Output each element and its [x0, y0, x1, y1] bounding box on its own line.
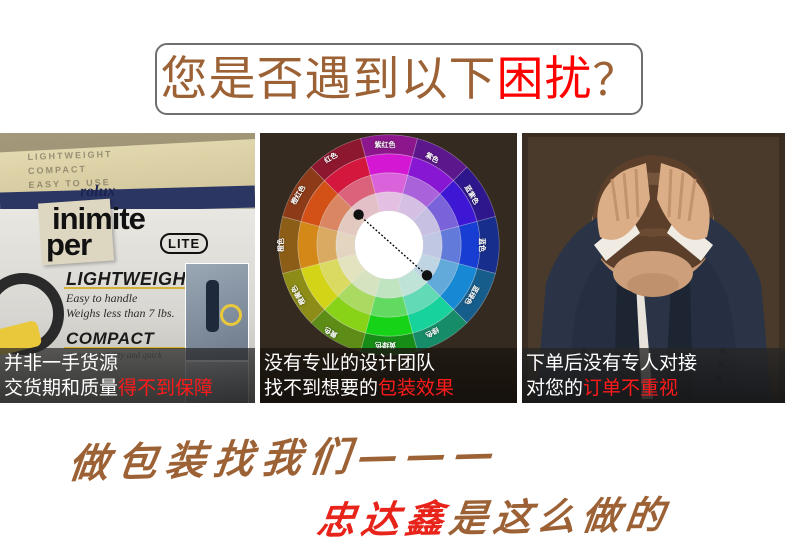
box-lite-badge: LITE	[160, 233, 208, 254]
panel-service[interactable]: 下单后没有专人对接 对您的订单不重视	[522, 133, 785, 403]
wheel-label-9: 橙色	[276, 238, 286, 252]
header-text-before: 您是否遇到以下	[161, 52, 497, 107]
footer-brand-name: 忠达鑫	[314, 496, 452, 543]
color-wheel-svg	[275, 133, 503, 359]
box-photo-inset-1	[185, 263, 249, 361]
caption-line-2-red: 订单不重视	[583, 377, 678, 399]
footer-slogan-tail: 是这么做的	[447, 492, 673, 541]
header-question-mark: ？	[593, 55, 638, 106]
header-text-highlight: 困扰	[497, 52, 593, 107]
box-feature-1-sub: Easy to handleWeighs less than 7 lbs.	[66, 291, 175, 321]
caption-line-2-plain: 交货期和质量	[4, 377, 118, 399]
page-title: 您是否遇到以下困扰？	[161, 56, 638, 103]
caption-line-2-plain: 对您的	[526, 377, 583, 399]
caption-line-2-red: 得不到保障	[118, 377, 213, 399]
box-feature-1-title: LIGHTWEIGHT	[66, 269, 197, 290]
wheel-label-3: 蓝色	[477, 238, 487, 252]
footer-slogan-line-1: 做包装找我们———	[66, 420, 506, 489]
caption-line-2: 对您的订单不重视	[526, 376, 785, 401]
panel-sourcing[interactable]: LIGHTWEIGHT COMPACT EASY TO USE rolux in…	[0, 133, 255, 403]
caption-line-1: 并非一手货源	[4, 351, 255, 376]
caption-service: 下单后没有专人对接 对您的订单不重视	[522, 348, 785, 403]
panel-design[interactable]: 紫红色紫色蓝紫色蓝色蓝绿色绿色黄绿色黄色橙黄色橙色橙红色红色 没有专业的设计团队…	[260, 133, 517, 403]
panel-row: LIGHTWEIGHT COMPACT EASY TO USE rolux in…	[0, 133, 790, 403]
box-feature-2-title: COMPACT	[66, 329, 154, 349]
color-wheel-graphic	[275, 133, 503, 359]
box-product-title-2: per	[46, 227, 91, 263]
wheel-label-0: 紫红色	[375, 140, 396, 150]
poster-root: 您是否遇到以下困扰？ LIGHTWEIGHT COMPACT EASY TO U…	[0, 0, 790, 559]
caption-line-1: 没有专业的设计团队	[264, 351, 517, 376]
caption-line-1: 下单后没有专人对接	[526, 351, 785, 376]
header-banner: 您是否遇到以下困扰？	[155, 43, 643, 115]
caption-line-2-plain: 找不到想要的	[264, 377, 378, 399]
caption-line-2: 交货期和质量得不到保障	[4, 376, 255, 401]
caption-line-2: 找不到想要的包装效果	[264, 376, 517, 401]
caption-design: 没有专业的设计团队 找不到想要的包装效果	[260, 348, 517, 403]
caption-line-2-red: 包装效果	[378, 377, 454, 399]
footer-slogan-line-2: 忠达鑫是这么做的	[314, 484, 674, 545]
caption-sourcing: 并非一手货源 交货期和质量得不到保障	[0, 348, 255, 403]
